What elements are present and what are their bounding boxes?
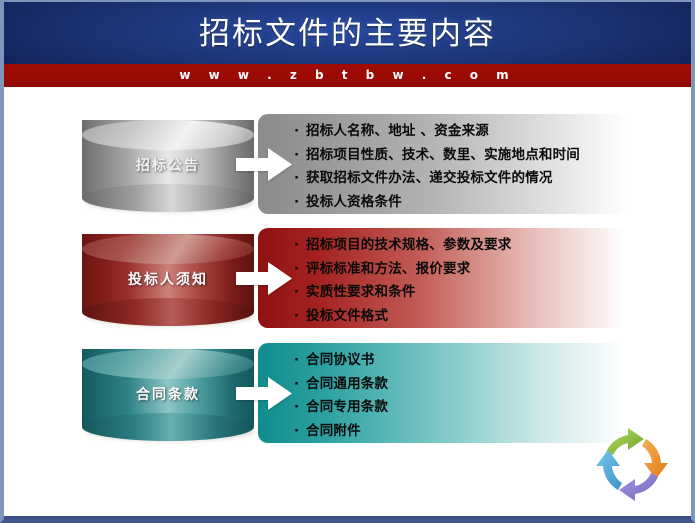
page-title: 招标文件的主要内容	[4, 8, 691, 53]
list-item: 评标标准和方法、报价要求	[294, 258, 644, 282]
content-panel-announcement: 招标人名称、地址 、资金来源 招标项目性质、技术、数里、实施地点和时间 获取招标…	[258, 114, 648, 214]
website-url: w w w . z b t b w . c o m	[4, 68, 691, 82]
cylinder-bidder-instructions: 投标人须知	[82, 224, 254, 328]
cylinder-top	[82, 234, 254, 264]
list-item: 招标项目性质、技术、数里、实施地点和时间	[294, 144, 644, 168]
cylinder-bottom	[82, 298, 254, 326]
cylinder-bottom	[82, 184, 254, 212]
list-item: 投标文件格式	[294, 305, 644, 329]
right-arrow-icon	[236, 148, 292, 181]
list-item: 实质性要求和条件	[294, 281, 644, 305]
bullet-list-bidder-instructions: 招标项目的技术规格、参数及要求 评标标准和方法、报价要求 实质性要求和条件 投标…	[294, 234, 644, 328]
cylinder-contract-terms: 合同条款	[82, 339, 254, 443]
list-item: 合同专用条款	[294, 396, 644, 420]
content-panel-bidder-instructions: 招标项目的技术规格、参数及要求 评标标准和方法、报价要求 实质性要求和条件 投标…	[258, 228, 648, 328]
cylinder-top	[82, 349, 254, 379]
list-item: 招标项目的技术规格、参数及要求	[294, 234, 644, 258]
section-row-contract-terms: 合同协议书 合同通用条款 合同专用条款 合同附件 合同条款	[4, 339, 691, 446]
list-item: 合同通用条款	[294, 373, 644, 397]
slide-header: 招标文件的主要内容	[4, 2, 691, 64]
list-item: 投标人资格条件	[294, 191, 644, 215]
cylinder-bottom	[82, 413, 254, 441]
cylinder-label-announcement: 招标公告	[82, 155, 254, 175]
list-item: 招标人名称、地址 、资金来源	[294, 120, 644, 144]
cylinder-top	[82, 120, 254, 150]
right-arrow-icon	[236, 262, 292, 295]
recycle-cycle-icon	[592, 426, 674, 502]
cylinder-label-contract-terms: 合同条款	[82, 384, 254, 404]
cylinder-label-bidder-instructions: 投标人须知	[82, 269, 254, 289]
bullet-list-announcement: 招标人名称、地址 、资金来源 招标项目性质、技术、数里、实施地点和时间 获取招标…	[294, 120, 644, 214]
section-row-bidder-instructions: 招标项目的技术规格、参数及要求 评标标准和方法、报价要求 实质性要求和条件 投标…	[4, 224, 691, 331]
slide: 招标文件的主要内容 w w w . z b t b w . c o m 招标人名…	[0, 0, 695, 523]
right-arrow-icon	[236, 377, 292, 410]
url-bar: w w w . z b t b w . c o m	[4, 64, 691, 87]
list-item: 合同协议书	[294, 349, 644, 373]
section-row-announcement: 招标人名称、地址 、资金来源 招标项目性质、技术、数里、实施地点和时间 获取招标…	[4, 110, 691, 217]
list-item: 获取招标文件办法、递交投标文件的情况	[294, 167, 644, 191]
content-panel-contract-terms: 合同协议书 合同通用条款 合同专用条款 合同附件	[258, 343, 648, 443]
cylinder-announcement: 招标公告	[82, 110, 254, 214]
